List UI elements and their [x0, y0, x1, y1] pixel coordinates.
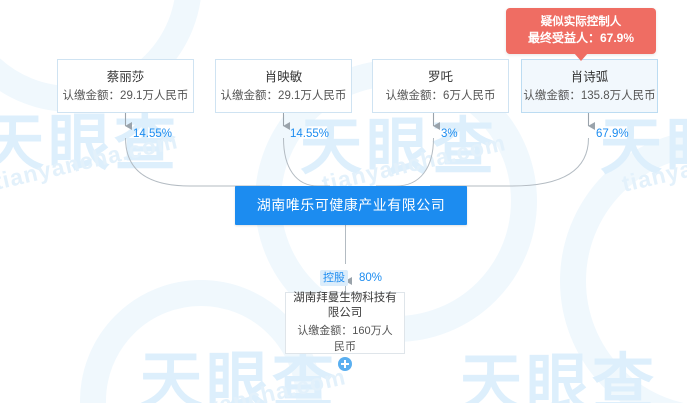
shareholder-node[interactable]: 蔡丽莎 认缴金额：29.1万人民币: [57, 59, 194, 113]
actual-controller-badge: 疑似实际控制人 最终受益人：67.9%: [506, 8, 656, 54]
shareholder-name: 罗吒: [428, 69, 453, 86]
ownership-percent: 67.9%: [596, 127, 629, 141]
subsidiary-name: 湖南拜曼生物科技有限公司: [293, 291, 397, 321]
shareholder-capital: 认缴金额：29.1万人民币: [63, 88, 189, 104]
ownership-percent: 14.55%: [133, 127, 172, 141]
shareholder-name: 蔡丽莎: [107, 69, 145, 86]
badge-beneficiary: 最终受益人：67.9%: [506, 30, 656, 47]
ownership-percent: 3%: [441, 127, 458, 141]
ownership-percent: 14.55%: [290, 127, 329, 141]
equity-structure-chart: 疑似实际控制人 最终受益人：67.9% 蔡丽莎 认缴金额：29.1万人民币 肖映…: [0, 0, 687, 403]
subsidiary-capital: 认缴金额：160万人民币: [293, 323, 397, 355]
shareholder-node[interactable]: 肖映敏 认缴金额：29.1万人民币: [215, 59, 352, 113]
plus-icon[interactable]: [338, 357, 352, 371]
main-company-name: 湖南唯乐可健康产业有限公司: [257, 197, 446, 214]
subsidiary-percent: 80%: [359, 271, 382, 285]
shareholder-capital: 认缴金额：29.1万人民币: [221, 88, 347, 104]
main-company-node[interactable]: 湖南唯乐可健康产业有限公司: [235, 186, 467, 225]
shareholder-capital: 认缴金额：135.8万人民币: [523, 88, 655, 104]
holding-tag: 控股: [320, 270, 348, 286]
shareholder-name: 肖映敏: [265, 69, 303, 86]
shareholder-node[interactable]: 肖诗弧 认缴金额：135.8万人民币: [521, 59, 658, 113]
shareholder-capital: 认缴金额：6万人民币: [386, 88, 496, 104]
badge-pointer-icon: [574, 53, 588, 61]
shareholder-node[interactable]: 罗吒 认缴金额：6万人民币: [372, 59, 509, 113]
shareholder-name: 肖诗弧: [571, 69, 609, 86]
subsidiary-node[interactable]: 湖南拜曼生物科技有限公司 认缴金额：160万人民币: [285, 292, 405, 354]
badge-title: 疑似实际控制人: [506, 14, 656, 30]
